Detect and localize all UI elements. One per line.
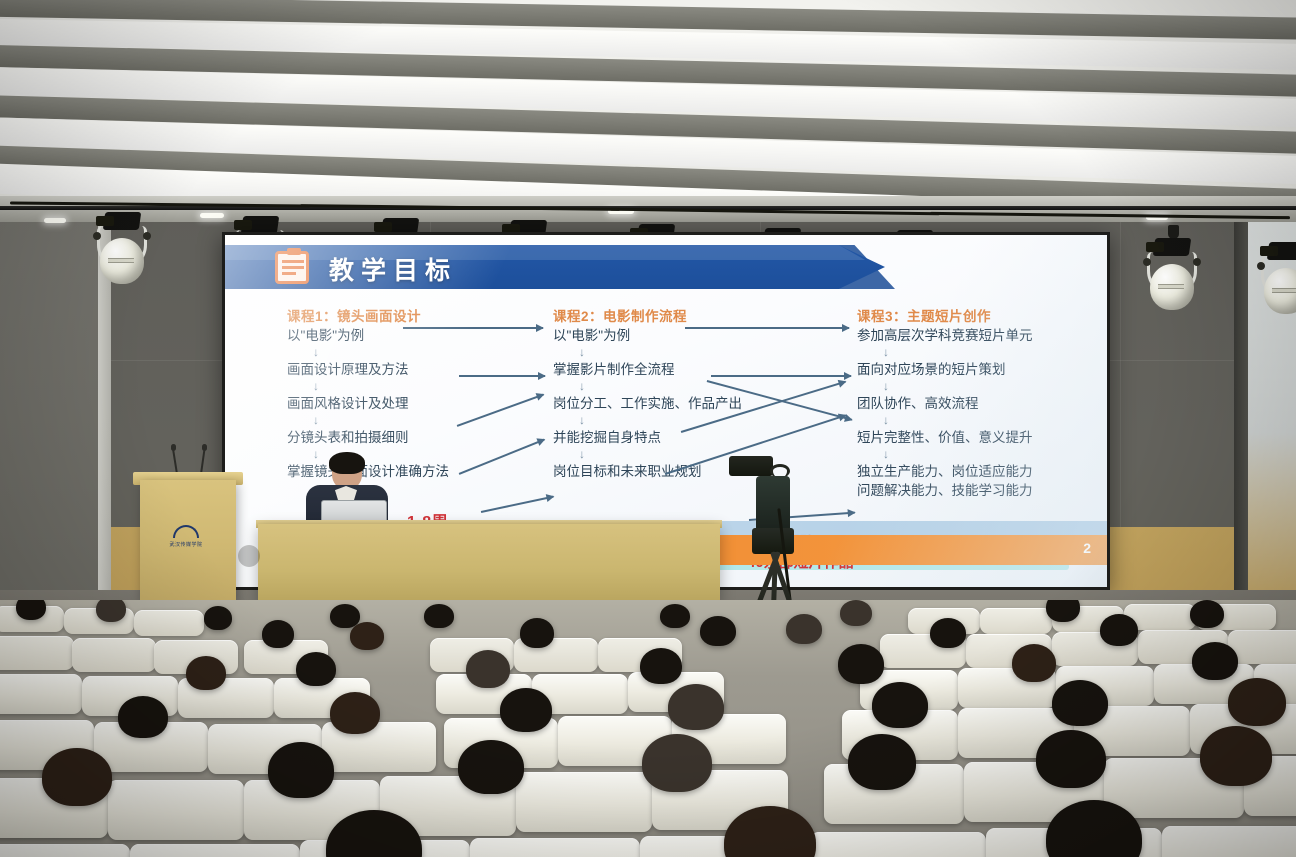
seat [0,636,74,670]
university-crest: 武汉传媒学院 [168,525,204,555]
down-arrow-glyph: ↓ [579,379,742,393]
audience-head [786,614,822,644]
microphone-head [171,444,176,451]
audience-head [424,604,454,628]
ceiling [0,0,1296,200]
audience-head [848,734,916,790]
clipboard-icon [275,251,309,284]
audience-head [640,648,682,684]
down-arrow-glyph: ↓ [883,345,1033,359]
column-2-item-4: 岗位目标和未来职业规划 [553,464,742,480]
speaker-hair [329,452,365,474]
down-arrow-glyph: ↓ [883,447,1033,461]
audience-head [466,650,510,688]
audience-head [330,692,380,734]
audience-head [520,618,554,648]
column-3-item-2: 团队协作、高效流程 [857,396,1033,412]
crest-arc-icon [173,525,199,538]
column-2-item-2: 岗位分工、工作实施、作品产出 [553,396,742,412]
audience-head [262,620,294,648]
column-3-item-0: 参加高层次学科竞赛短片单元 [857,328,1033,344]
column-3-item-3: 短片完整性、价值、意义提升 [857,430,1033,446]
microphone-head [202,444,207,451]
down-arrow-glyph: ↓ [883,413,1033,427]
connector-arrow [481,496,554,513]
column-3-item-4: 独立生产能力、岗位适应能力 [857,464,1033,480]
camera-lens-hood [729,456,773,476]
slide-page-number: 2 [1083,540,1091,556]
audience-head [268,742,334,798]
audience-head [1052,680,1108,726]
connector-arrow [711,375,851,377]
camera-body [756,476,790,534]
audience-head [1036,730,1106,788]
column-2-title: 课程2：电影制作流程 [553,309,742,325]
audience-head [1012,644,1056,682]
slide-column-2: 课程2：电影制作流程 以"电影"为例 ↓ 掌握影片制作全流程 ↓ 岗位分工、工作… [553,309,742,480]
audience-head [1200,726,1272,786]
seat [516,772,652,832]
audience-head [642,734,712,792]
seat [130,844,300,857]
audience-head [16,600,46,620]
audience-seating [0,600,1296,857]
audience-head [1046,600,1080,622]
audience-head [1190,600,1224,628]
left-wall-column [0,196,104,616]
audience-head [668,684,724,730]
column-1-item-0: 以"电影"为例 [287,328,449,344]
seat [810,832,986,857]
down-arrow-glyph: ↓ [883,379,1033,393]
audience-head [296,652,336,686]
audience-head [840,600,872,626]
connector-arrow [459,439,545,475]
down-arrow-glyph: ↓ [579,447,742,461]
audience-head [186,656,226,690]
audience-head [930,618,966,648]
column-3-item-5: 问题解决能力、技能学习能力 [857,483,1033,499]
column-1-item-3: 分镜头表和拍摄细则 [287,430,449,446]
seat [0,674,82,714]
seat [108,780,244,840]
down-arrow-glyph: ↓ [313,379,449,393]
audience-head [500,688,552,732]
seat [1228,630,1296,664]
slide-column-3: 课程3：主题短片创作 参加高层次学科竞赛短片单元 ↓ 面向对应场景的短片策划 ↓… [857,309,1033,499]
recessed-light [44,218,66,223]
presenter-table [258,524,720,602]
audience-head [838,644,884,684]
audience-head [204,606,232,630]
column-3-title: 课程3：主题短片创作 [857,309,1033,325]
seat [0,844,130,857]
seat [1162,826,1296,857]
audience-head [96,600,126,622]
audience-head [700,616,736,646]
slide-header-sheen [225,245,885,260]
seat [980,608,1052,634]
seat [470,838,640,857]
stage-light [1144,238,1200,316]
audience-head [660,604,690,628]
connector-arrow [685,327,849,329]
audience-head [872,682,928,728]
column-1-title: 课程1：镜头画面设计 [287,309,449,325]
crest-text: 武汉传媒学院 [168,541,204,548]
audience-head [42,748,112,806]
down-arrow-glyph: ↓ [313,413,449,427]
audience-head [1100,614,1138,646]
auditorium-scene: 教学目标 课程1：镜头画面设计 以"电影"为例 ↓ 画面设计原理及方法 ↓ 画面… [0,0,1296,857]
stage-light [1258,242,1296,320]
stage-light [94,212,150,290]
column-2-item-3: 并能挖掘自身特点 [553,430,742,446]
column-1-item-2: 画面风格设计及处理 [287,396,449,412]
down-arrow-glyph: ↓ [313,345,449,359]
recessed-light [200,213,224,218]
audience-head [1228,678,1286,726]
audience-head [118,696,168,738]
seat [72,638,156,672]
audience-head [458,740,524,794]
seat [134,610,204,636]
column-2-item-0: 以"电影"为例 [553,328,742,344]
column-1-item-1: 画面设计原理及方法 [287,362,449,378]
connector-arrow [403,327,543,329]
down-arrow-glyph: ↓ [579,345,742,359]
security-camera-icon [1168,225,1179,239]
table-shadow [238,545,260,567]
audience-head [350,622,384,650]
connector-arrow [457,394,544,427]
audience-head [1192,642,1238,680]
slide-title: 教学目标 [329,251,457,287]
connector-arrow [459,375,545,377]
column-3-item-1: 面向对应场景的短片策划 [857,362,1033,378]
tripod-head [752,528,794,554]
